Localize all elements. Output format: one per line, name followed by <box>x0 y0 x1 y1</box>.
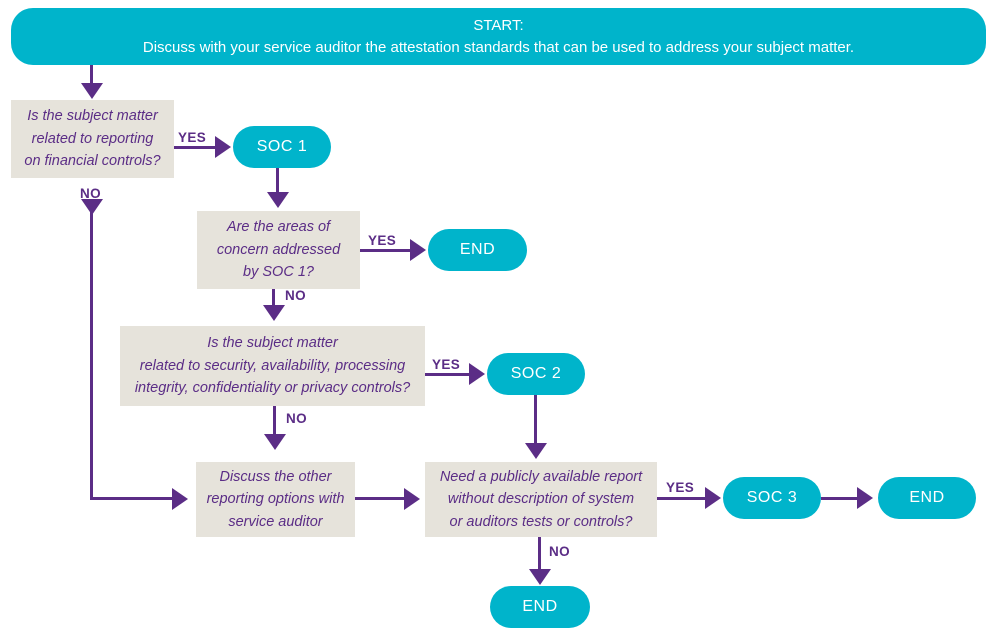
edge-d1-no-join <box>90 497 175 500</box>
start-heading: START: <box>31 15 966 37</box>
decision-line: integrity, confidentiality or privacy co… <box>128 377 417 399</box>
decision-line: by SOC 1? <box>205 261 352 283</box>
edge-d4-to-d5-arrow <box>404 488 420 510</box>
label-yes-security: YES <box>432 357 460 372</box>
decision-subject-matter-security: Is the subject matter related to securit… <box>120 326 425 406</box>
decision-line: or auditors tests or controls? <box>433 511 649 533</box>
decision-subject-matter-financial: Is the subject matter related to reporti… <box>11 100 174 178</box>
decision-line: service auditor <box>204 511 347 533</box>
edge-d2-no-arrow <box>263 305 285 321</box>
edge-d3-yes-line <box>425 373 472 376</box>
decision-line: Are the areas of <box>205 216 352 238</box>
start-banner: START: Discuss with your service auditor… <box>11 8 986 65</box>
decision-line: concern addressed <box>205 239 352 261</box>
label-no-security: NO <box>286 411 307 426</box>
outcome-end-soc3-label: END <box>909 489 944 507</box>
edge-soc2-to-d5-line <box>534 395 537 445</box>
edge-soc1-to-d2-arrow <box>267 192 289 208</box>
edge-d5-no-line <box>538 537 541 571</box>
edge-d1-yes-arrow <box>215 136 231 158</box>
outcome-end-other: END <box>490 586 590 628</box>
edge-d1-no-spine <box>90 199 93 500</box>
edge-d3-no-line <box>273 406 276 436</box>
outcome-soc1-label: SOC 1 <box>257 138 308 156</box>
decision-line: Is the subject matter <box>19 105 166 127</box>
start-text: Discuss with your service auditor the at… <box>31 37 966 59</box>
outcome-soc2: SOC 2 <box>487 353 585 395</box>
decision-line: on financial controls? <box>19 150 166 172</box>
decision-line: Discuss the other <box>204 466 347 488</box>
edge-d3-yes-arrow <box>469 363 485 385</box>
outcome-end-soc1-label: END <box>460 241 495 259</box>
outcome-soc3-label: SOC 3 <box>747 489 798 507</box>
edge-d4-to-d5-line <box>355 497 407 500</box>
decision-discuss-other-options: Discuss the other reporting options with… <box>196 462 355 537</box>
edge-d2-yes-line <box>360 249 413 252</box>
label-yes-public: YES <box>666 480 694 495</box>
decision-line: Need a publicly available report <box>433 466 649 488</box>
flowchart-canvas: START: Discuss with your service auditor… <box>0 0 997 636</box>
edge-d5-yes-line <box>657 497 708 500</box>
label-no-areas: NO <box>285 288 306 303</box>
edge-d3-no-arrow <box>264 434 286 450</box>
decision-public-report: Need a publicly available report without… <box>425 462 657 537</box>
outcome-soc3: SOC 3 <box>723 477 821 519</box>
edge-d5-yes-arrow <box>705 487 721 509</box>
decision-line: reporting options with <box>204 488 347 510</box>
decision-line: Is the subject matter <box>128 332 417 354</box>
decision-line: related to security, availability, proce… <box>128 355 417 377</box>
outcome-end-soc1: END <box>428 229 527 271</box>
edge-soc2-to-d5-arrow <box>525 443 547 459</box>
decision-line: related to reporting <box>19 128 166 150</box>
edge-d1-no-join-arrow <box>172 488 188 510</box>
edge-start-to-d1-arrow <box>81 83 103 99</box>
decision-line: without description of system <box>433 488 649 510</box>
label-yes-areas: YES <box>368 233 396 248</box>
outcome-end-other-label: END <box>522 598 557 616</box>
label-yes-financial: YES <box>178 130 206 145</box>
outcome-soc1: SOC 1 <box>233 126 331 168</box>
edge-d1-yes-line <box>174 146 218 149</box>
edge-soc3-to-end-line <box>821 497 860 500</box>
label-no-public: NO <box>549 544 570 559</box>
edge-d5-no-arrow <box>529 569 551 585</box>
edge-d2-yes-arrow <box>410 239 426 261</box>
edge-soc3-to-end-arrow <box>857 487 873 509</box>
edge-soc1-to-d2-line <box>276 168 279 195</box>
outcome-soc2-label: SOC 2 <box>511 365 562 383</box>
decision-areas-of-concern: Are the areas of concern addressed by SO… <box>197 211 360 289</box>
outcome-end-soc3: END <box>878 477 976 519</box>
